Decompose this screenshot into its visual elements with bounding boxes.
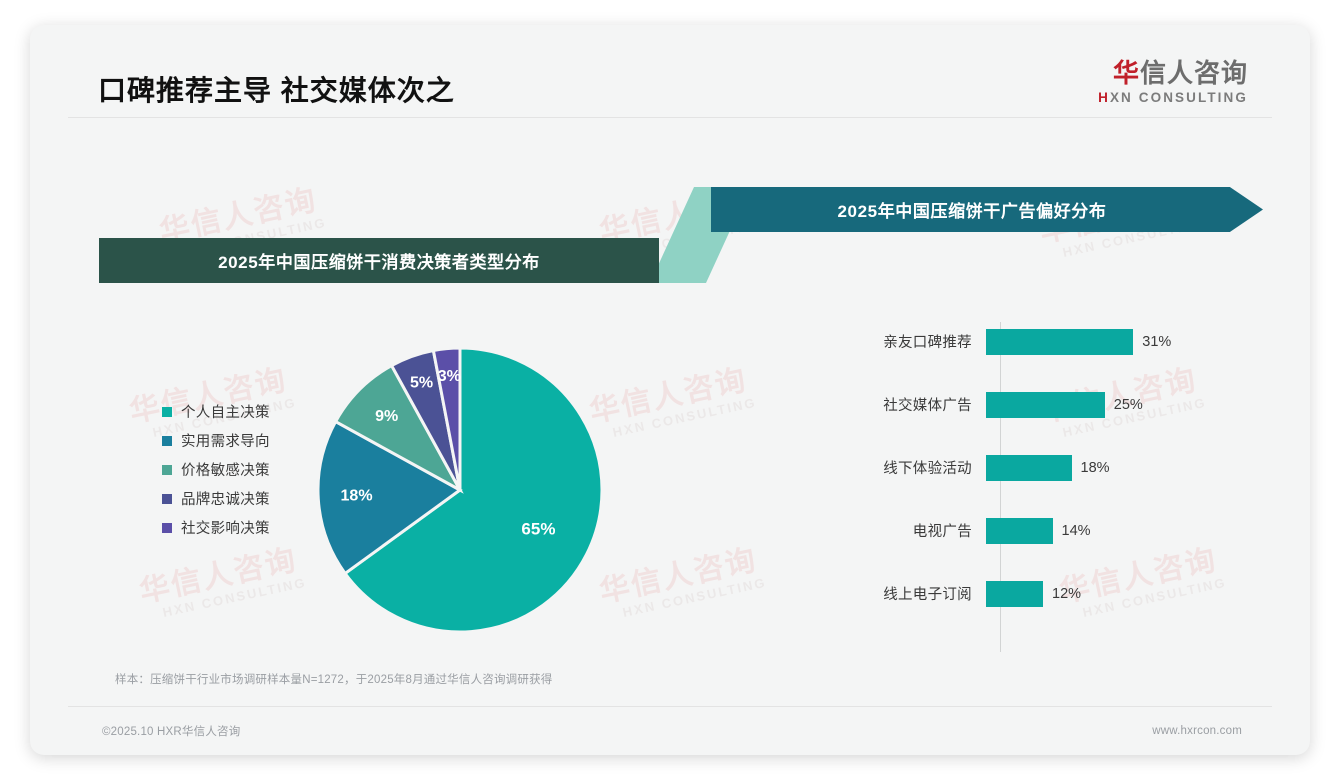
footer-bar: ©2025.10 HXR华信人咨询 www.hxrcon.com — [30, 707, 1310, 755]
banner-left-title: 2025年中国压缩饼干消费决策者类型分布 — [218, 248, 540, 273]
logo-english-rest: XN CONSULTING — [1110, 90, 1248, 105]
page-title: 口碑推荐主导 社交媒体次之 — [98, 69, 455, 109]
banner-right-title: 2025年中国压缩饼干广告偏好分布 — [837, 197, 1106, 222]
banner-right: 2025年中国压缩饼干广告偏好分布 — [711, 187, 1263, 232]
logo-en-accent-char: H — [1098, 90, 1110, 105]
company-logo: 华信人咨询 HXN CONSULTING — [1098, 59, 1248, 105]
banner-left: 2025年中国压缩饼干消费决策者类型分布 — [99, 238, 659, 283]
sample-footnote: 样本：压缩饼干行业市场调研样本量N=1272，于2025年8月通过华信人咨询调研… — [115, 671, 552, 687]
logo-chinese-rest: 信人咨询 — [1140, 58, 1248, 88]
section-banners: 2025年中国压缩饼干消费决策者类型分布 2025年中国压缩饼干广告偏好分布 — [30, 25, 1310, 755]
slide-card: 华信人咨询 HXN CONSULTING 华信人咨询 HXN CONSULTIN… — [30, 25, 1310, 755]
copyright-text: ©2025.10 HXR华信人咨询 — [102, 723, 240, 739]
logo-english: HXN CONSULTING — [1098, 90, 1248, 105]
header-divider — [68, 117, 1272, 118]
slide-header: 口碑推荐主导 社交媒体次之 华信人咨询 HXN CONSULTING — [30, 25, 1310, 120]
logo-chinese: 华信人咨询 — [1098, 59, 1248, 88]
website-link[interactable]: www.hxrcon.com — [1152, 725, 1242, 737]
logo-accent-char: 华 — [1113, 58, 1140, 88]
